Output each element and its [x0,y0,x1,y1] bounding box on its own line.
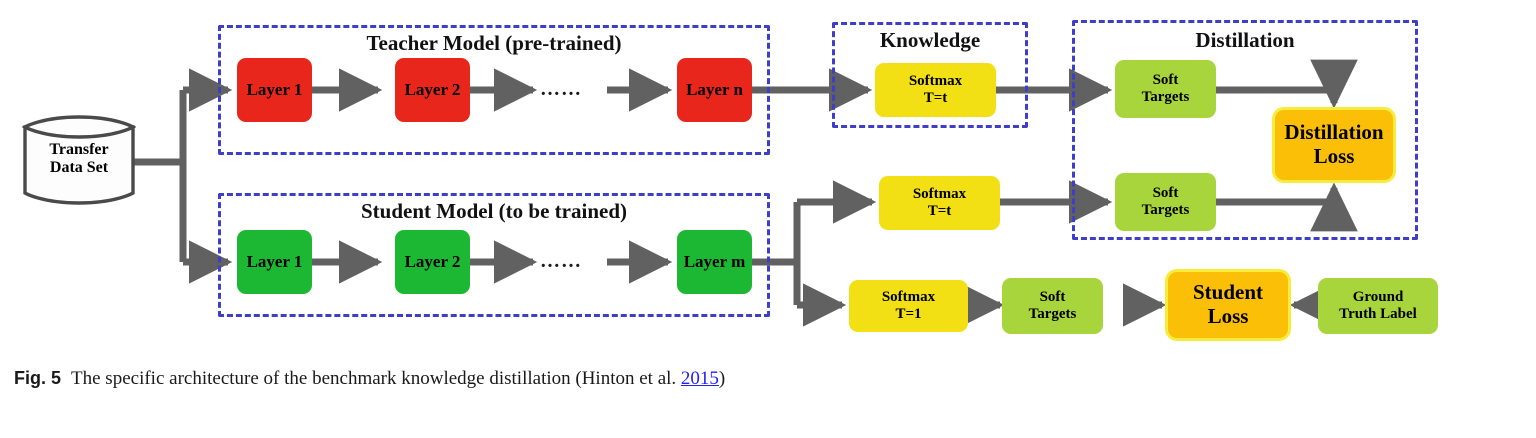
ground-truth-label-node[interactable]: Ground Truth Label [1318,278,1438,334]
student-softmax-temp-line1: Softmax [913,186,966,202]
teacher-layer-2[interactable]: Layer 2 [395,58,470,122]
soft-targets-teacher-label: Soft Targets [1142,72,1190,106]
student-layer-1[interactable]: Layer 1 [237,230,312,294]
figure-caption: Fig. 5The specific architecture of the b… [14,368,1514,390]
soft-targets-hard-line1: Soft [1040,289,1066,305]
teacher-ellipsis: …… [540,78,582,101]
student-softmax-temp-label: Softmax T=t [913,186,966,220]
teacher-layer-2-label: Layer 2 [405,80,461,99]
teacher-model-title: Teacher Model (pre-trained) [218,31,770,56]
distillation-loss-line2: Loss [1314,144,1355,168]
distillation-loss-line1: Distillation [1284,120,1383,144]
student-softmax-one-line1: Softmax [882,289,935,305]
ground-truth-line2: Truth Label [1339,306,1417,322]
knowledge-softmax-line1: Softmax [909,73,962,89]
student-softmax-one-node[interactable]: Softmax T=1 [849,280,968,332]
soft-targets-student-node[interactable]: Soft Targets [1115,173,1216,231]
student-layer-2[interactable]: Layer 2 [395,230,470,294]
knowledge-distillation-diagram: Transfer Data Set Teacher Model (pre-tra… [0,0,1536,368]
student-softmax-temp-node[interactable]: Softmax T=t [879,176,1000,230]
student-layer-2-label: Layer 2 [405,252,461,271]
distillation-loss-label: Distillation Loss [1284,121,1383,168]
student-loss-line2: Loss [1208,304,1249,328]
ground-truth-line1: Ground [1353,289,1404,305]
soft-targets-teacher-line1: Soft [1153,72,1179,88]
transfer-data-set-line1: Transfer [49,141,108,158]
knowledge-softmax-line2: T=t [924,90,948,106]
soft-targets-student-line2: Targets [1142,202,1190,218]
teacher-layer-n[interactable]: Layer n [677,58,752,122]
knowledge-title: Knowledge [832,28,1028,53]
figure-number: Fig. 5 [14,368,61,388]
teacher-layer-n-label: Layer n [686,80,743,99]
knowledge-softmax-node[interactable]: Softmax T=t [875,63,996,117]
student-softmax-temp-line2: T=t [928,203,952,219]
student-model-title: Student Model (to be trained) [218,199,770,224]
soft-targets-teacher-line2: Targets [1142,89,1190,105]
transfer-data-set-line2: Data Set [50,159,108,176]
ground-truth-label-text: Ground Truth Label [1339,289,1417,323]
soft-targets-student-label: Soft Targets [1142,185,1190,219]
student-loss-node[interactable]: Student Loss [1168,272,1288,338]
distillation-loss-node[interactable]: Distillation Loss [1275,110,1393,180]
student-loss-line1: Student [1193,280,1263,304]
teacher-layer-1-label: Layer 1 [247,80,303,99]
soft-targets-hard-node[interactable]: Soft Targets [1002,278,1103,334]
student-softmax-one-line2: T=1 [895,306,921,322]
distillation-title: Distillation [1072,28,1418,53]
soft-targets-hard-line2: Targets [1029,306,1077,322]
soft-targets-teacher-node[interactable]: Soft Targets [1115,60,1216,118]
student-layer-1-label: Layer 1 [247,252,303,271]
soft-targets-student-line1: Soft [1153,185,1179,201]
knowledge-softmax-label: Softmax T=t [909,73,962,107]
soft-targets-hard-label: Soft Targets [1029,289,1077,323]
transfer-data-set-label: Transfer Data Set [22,141,136,178]
student-ellipsis: …… [540,250,582,273]
transfer-data-set-node: Transfer Data Set [22,114,136,206]
citation-year-link[interactable]: 2015 [681,368,719,389]
student-loss-label: Student Loss [1193,281,1263,328]
figure-caption-tail: ) [719,368,725,389]
teacher-layer-1[interactable]: Layer 1 [237,58,312,122]
figure-caption-text: The specific architecture of the benchma… [71,368,681,389]
student-layer-m-label: Layer m [684,252,746,271]
student-softmax-one-label: Softmax T=1 [882,289,935,323]
student-layer-m[interactable]: Layer m [677,230,752,294]
